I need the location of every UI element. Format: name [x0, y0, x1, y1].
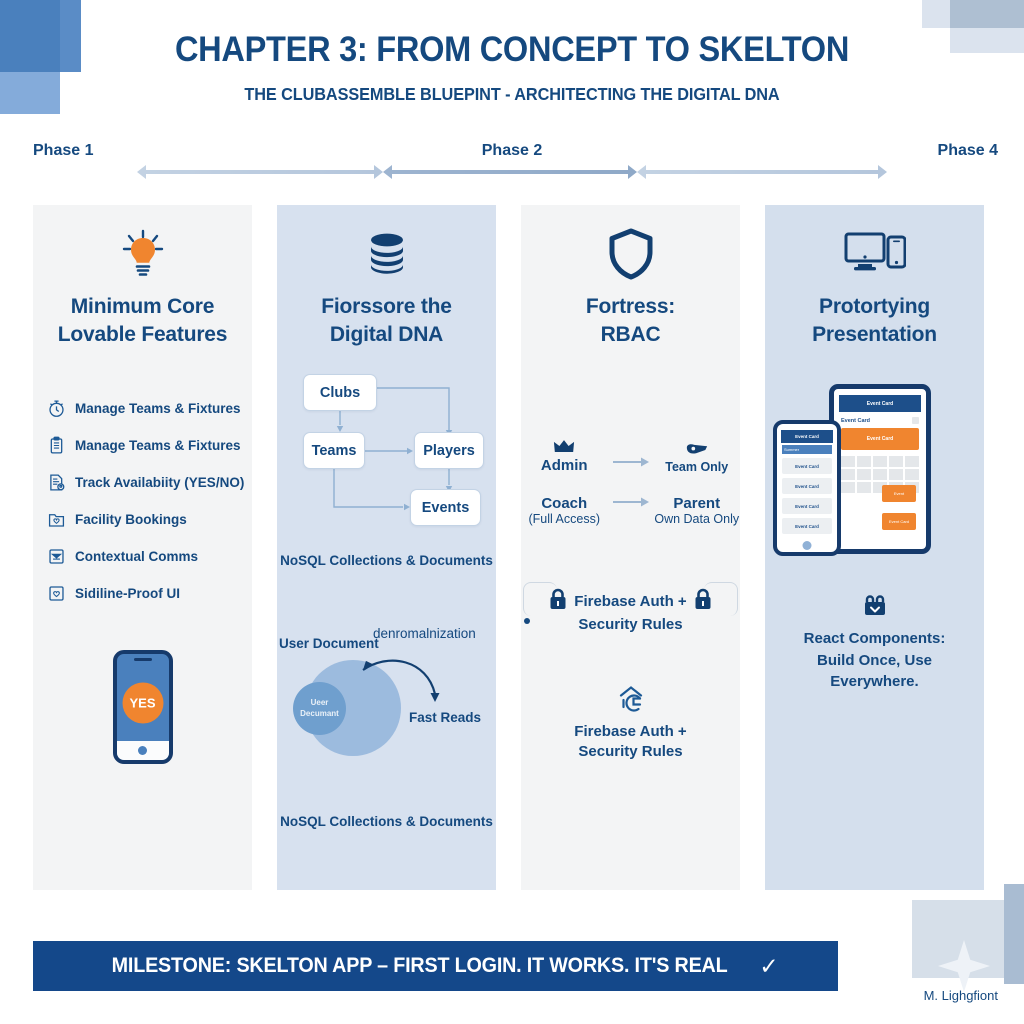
grid-cell	[841, 482, 855, 493]
column-4-title: ProtortyingPresentation	[765, 293, 984, 348]
column-2-title: Fiorssore theDigital DNA	[277, 293, 496, 348]
grid-cell	[841, 469, 855, 480]
fast-reads-label: Fast Reads	[409, 710, 481, 725]
arrow-line	[390, 170, 630, 174]
firebase-line-2: Security Rules	[521, 742, 740, 762]
milestone-text: MILESTONE: SKELTON APP – FIRST LOGIN. IT…	[112, 954, 728, 978]
feature-item-facility-bookings[interactable]: Facility Bookings	[41, 501, 252, 538]
role-name: Coach	[521, 495, 608, 512]
phone-card[interactable]: Event Card	[782, 498, 832, 514]
role-arrow-1-icon	[608, 456, 654, 474]
arrow-head-right-icon	[374, 165, 383, 179]
tablet-menu-icon[interactable]	[912, 417, 919, 424]
tablet-label: Event Card	[841, 418, 870, 424]
footer-line-1: React Components:	[765, 628, 984, 649]
feature-label: Track Availabiity (YES/NO)	[75, 475, 244, 490]
role-admin: Admin	[521, 432, 608, 474]
database-icon	[277, 205, 496, 279]
column-fortress-rbac: Fortress:RBAC Admin	[521, 205, 740, 890]
grid-cell	[857, 469, 871, 480]
yes-button[interactable]: YES	[122, 682, 163, 723]
firebase-auth-block-1: Firebase Auth + Security Rules	[521, 588, 740, 635]
column-3-title: Fortress:RBAC	[521, 293, 740, 348]
device-mockups: Event Card Event Card Event Card	[765, 378, 984, 568]
signature: M. Lighgfiont	[924, 988, 998, 1003]
role-sub: Own Data Only	[654, 512, 741, 526]
phase-arrow-segment-3	[637, 165, 887, 179]
tablet-chip-2[interactable]: Event Card	[882, 513, 916, 530]
role-team-only: Team Only	[654, 435, 741, 474]
feature-label: Sidiline-Proof UI	[75, 586, 180, 601]
check-icon: ✓	[759, 955, 778, 978]
caption-nosql-top: NoSQL Collections & Documents	[277, 553, 496, 568]
grid-cell	[905, 456, 919, 467]
er-node-events[interactable]: Events	[410, 489, 481, 526]
feature-label: Facility Bookings	[75, 512, 187, 527]
arrow-head-right-icon	[628, 165, 637, 179]
grid-cell	[857, 456, 871, 467]
bracket-left-decoration	[523, 582, 557, 616]
phone-home-bar	[117, 741, 169, 760]
react-components-footer: React Components: Build Once, Use Everyw…	[765, 590, 984, 692]
role-name: Admin	[521, 457, 608, 474]
grid-cell	[873, 469, 887, 480]
milestone-banner: MILESTONE: SKELTON APP – FIRST LOGIN. IT…	[33, 941, 838, 991]
tablet-body: Event Card Event Card	[834, 412, 926, 498]
er-node-players[interactable]: Players	[414, 432, 484, 469]
phase-arrow-segment-2	[383, 165, 637, 179]
clipboard-icon	[45, 435, 67, 457]
page-subtitle: THE CLUBASSEMBLE BLUEPINT - ARCHITECTING…	[36, 84, 988, 105]
role-sub: (Full Access)	[521, 512, 608, 526]
document-pin-icon	[45, 472, 67, 494]
arrow-line	[144, 170, 376, 174]
footer-line-3: Everywhere.	[765, 671, 984, 692]
firebase-line-1: Firebase Auth +	[521, 722, 740, 742]
feature-label: Manage Teams & Fixtures	[75, 438, 241, 453]
firebase-auth-block-2: Firebase Auth + Security Rules	[521, 684, 740, 763]
grid-cell	[889, 469, 903, 480]
column-digital-dna: Fiorssore theDigital DNA	[277, 205, 496, 890]
tablet-home-button-icon[interactable]	[876, 538, 885, 547]
decor-top-right-block-a	[922, 0, 950, 28]
decor-top-right-block-b	[950, 0, 1024, 28]
phone-header-bar: Event Card	[781, 430, 833, 443]
phone-subheader: Summer	[782, 445, 832, 454]
phase-label-4: Phase 4	[938, 142, 998, 160]
phone-frame: YES	[113, 650, 173, 764]
feature-item-track-availability[interactable]: Track Availabiity (YES/NO)	[41, 464, 252, 501]
phone-mockup-col4: Event Card Summer Event Card Event Card …	[773, 420, 841, 556]
devices-icon	[765, 205, 984, 279]
phone-home-button-icon[interactable]	[803, 541, 812, 550]
shield-icon	[521, 205, 740, 279]
feature-label: Manage Teams & Fixtures	[75, 401, 241, 416]
roles-grid: Admin Team Only	[521, 432, 740, 526]
column-minimum-core-features: Minimum CoreLovable Features Manage Team…	[33, 205, 252, 890]
feature-label: Contextual Comms	[75, 549, 198, 564]
components-lock-icon	[765, 590, 984, 620]
er-diagram: Clubs Teams Players Events	[277, 374, 496, 539]
crown-icon	[521, 432, 608, 454]
feature-item-manage-teams-fixtures-1[interactable]: Manage Teams & Fixtures	[41, 390, 252, 427]
denorm-curved-arrow-icon	[277, 598, 496, 788]
heart-square-icon	[45, 583, 67, 605]
er-node-clubs[interactable]: Clubs	[303, 374, 377, 411]
feature-item-sideline-proof-ui[interactable]: Sidiline-Proof UI	[41, 575, 252, 612]
tablet-primary-button[interactable]: Event Card	[841, 428, 919, 450]
arrow-line	[644, 170, 880, 174]
caption-nosql-bottom: NoSQL Collections & Documents	[277, 814, 496, 829]
phone-notch	[134, 658, 152, 661]
folder-heart-icon	[45, 509, 67, 531]
infographic-page: CHAPTER 3: FROM CONCEPT TO SKELTON THE C…	[0, 0, 1024, 1024]
tablet-header-bar: Event Card	[839, 395, 921, 412]
grid-cell	[857, 482, 871, 493]
message-icon	[45, 546, 67, 568]
denormalization-diagram: User Document denromalnization Ueer Decu…	[277, 598, 496, 788]
role-coach: Coach (Full Access)	[521, 492, 608, 526]
role-arrow-2-icon	[608, 496, 654, 526]
firebase-icon	[521, 684, 740, 714]
footer-line-2: Build Once, Use	[765, 650, 984, 671]
whistle-icon	[654, 435, 741, 457]
grid-cell	[841, 456, 855, 467]
feature-item-manage-teams-fixtures-2[interactable]: Manage Teams & Fixtures	[41, 427, 252, 464]
feature-list: Manage Teams & Fixtures Manage Teams & F…	[33, 390, 252, 612]
phone-card[interactable]: Event Card	[782, 458, 832, 474]
home-button-icon[interactable]	[138, 746, 147, 755]
stopwatch-icon	[45, 398, 67, 420]
grid-cell	[905, 469, 919, 480]
page-title: CHAPTER 3: FROM CONCEPT TO SKELTON	[36, 30, 988, 70]
decor-bottom-right-block-b	[1004, 884, 1024, 984]
role-name: Parent	[654, 495, 741, 512]
er-node-teams[interactable]: Teams	[303, 432, 365, 469]
lightbulb-icon	[33, 205, 252, 279]
column-1-title: Minimum CoreLovable Features	[33, 293, 252, 348]
role-name: Team Only	[654, 460, 741, 474]
tablet-chip-1[interactable]: Event	[882, 485, 916, 502]
arrow-head-right-icon	[878, 165, 887, 179]
firebase-line-2: Security Rules	[521, 615, 740, 635]
role-parent: Parent Own Data Only	[654, 492, 741, 526]
grid-cell	[889, 456, 903, 467]
column-prototyping-presentation: ProtortyingPresentation Event Card Event…	[765, 205, 984, 890]
grid-cell	[873, 456, 887, 467]
feature-item-contextual-comms[interactable]: Contextual Comms	[41, 538, 252, 575]
phase-label-2: Phase 2	[0, 142, 1024, 160]
firebase-line-1: Firebase Auth +	[574, 592, 686, 612]
phase-arrow-segment-1	[137, 165, 383, 179]
tablet-mockup: Event Card Event Card Event Card	[829, 384, 931, 554]
phone-mockup-col1: YES	[33, 650, 252, 764]
phone-card[interactable]: Event Card	[782, 518, 832, 534]
phone-card[interactable]: Event Card	[782, 478, 832, 494]
bracket-right-decoration	[704, 582, 738, 616]
